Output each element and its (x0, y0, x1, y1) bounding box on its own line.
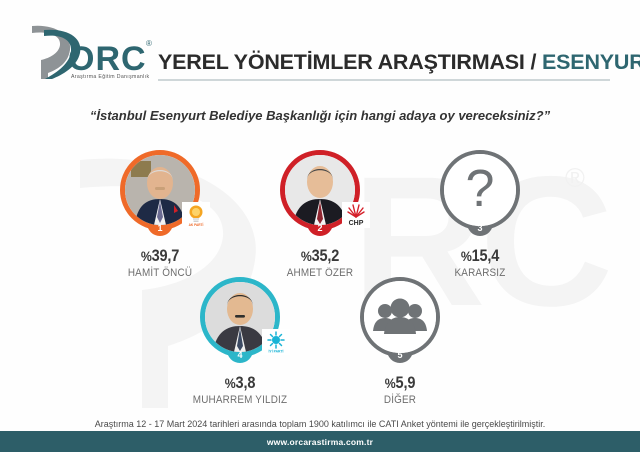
result-pin: 2 CHP (280, 150, 360, 242)
rank-badge: 2 (313, 222, 327, 235)
result-item-hamit-oncu: 1 AK PARTİ %39,7 HAMİT ÖNCÜ (104, 150, 216, 279)
result-item-diger: 5 %5,9 DİĞER (344, 277, 456, 406)
title-city-text: ESENYURT (542, 50, 640, 74)
party-logo-chp: CHP (342, 202, 370, 228)
page-title: YEREL YÖNETİMLER ARAŞTIRMASI / ESENYURT (158, 50, 640, 75)
party-logo-akparti: AK PARTİ (182, 202, 210, 228)
result-pin: 4 İYİ PAR (200, 277, 280, 369)
result-item-ahmet-ozer: 2 CHP (264, 150, 376, 279)
akparti-lightbulb-icon: AK PARTİ (183, 203, 209, 227)
methodology-note: Araştırma 12 - 17 Mart 2024 tarihleri ar… (0, 419, 640, 429)
result-percentage: %35,2 (271, 247, 370, 266)
rank-badge: 5 (393, 349, 407, 362)
percent-symbol: % (225, 375, 236, 391)
percent-value: 3,8 (236, 374, 256, 392)
candidate-name: MUHARREM YILDIZ (190, 394, 291, 406)
percent-symbol: % (301, 248, 312, 264)
result-pin: 5 (360, 277, 440, 369)
percent-value: 15,4 (472, 247, 500, 265)
result-percentage: %5,9 (351, 374, 450, 393)
rank-badge: 3 (473, 222, 487, 235)
result-percentage: %39,7 (111, 247, 210, 266)
undecided-ring: ? (440, 150, 520, 230)
chp-six-arrows-icon: CHP (343, 203, 369, 227)
orc-registered-icon: ® (146, 39, 152, 48)
percent-value: 39,7 (152, 247, 180, 265)
other-ring (360, 277, 440, 357)
website-url[interactable]: www.orcarastirma.com.tr (267, 437, 373, 447)
percent-symbol: % (141, 248, 152, 264)
svg-text:CHP: CHP (349, 220, 364, 227)
rank-badge: 4 (233, 349, 247, 362)
website-bar: www.orcarastirma.com.tr (0, 431, 640, 452)
result-item-kararsiz: ? 3 %15,4 KARARSIZ (424, 150, 536, 279)
svg-text:AK PARTİ: AK PARTİ (189, 223, 204, 227)
candidate-name: DİĞER (350, 394, 451, 406)
svg-text:?: ? (466, 160, 495, 218)
orc-logo: ORC ® Araştırma Eğitim Danışmanlık (28, 22, 158, 84)
header: ORC ® Araştırma Eğitim Danışmanlık YEREL… (0, 0, 640, 92)
question-mark-icon: ? (444, 154, 516, 226)
result-percentage: %3,8 (191, 374, 290, 393)
result-item-muharrem-yildiz: 4 İYİ PAR (184, 277, 296, 406)
percent-value: 5,9 (396, 374, 416, 392)
title-main-text: YEREL YÖNETİMLER ARAŞTIRMASI / (158, 50, 542, 74)
people-group-icon (364, 281, 436, 353)
result-pin: 1 AK PARTİ (120, 150, 200, 242)
result-percentage: %15,4 (431, 247, 530, 266)
percent-value: 35,2 (312, 247, 340, 265)
survey-question: “İstanbul Esenyurt Belediye Başkanlığı i… (0, 108, 640, 123)
percent-symbol: % (385, 375, 396, 391)
percent-symbol: % (461, 248, 472, 264)
orc-tagline: Araştırma Eğitim Danışmanlık (71, 74, 149, 80)
results-row-top: 1 AK PARTİ %39,7 HAMİT ÖNCÜ (0, 150, 640, 279)
poll-infographic: RC ® ORC ® Araştırma Eğitim Danışmanlık … (0, 0, 640, 452)
svg-text:İYİ PARTİ: İYİ PARTİ (268, 350, 283, 354)
result-pin: ? 3 (440, 150, 520, 242)
party-logo-iyiparti: İYİ PARTİ (262, 329, 290, 355)
results-row-bottom: 4 İYİ PAR (0, 277, 640, 406)
rank-badge: 1 (153, 222, 167, 235)
iyiparti-sun-icon: İYİ PARTİ (263, 330, 289, 354)
title-divider (158, 79, 610, 81)
